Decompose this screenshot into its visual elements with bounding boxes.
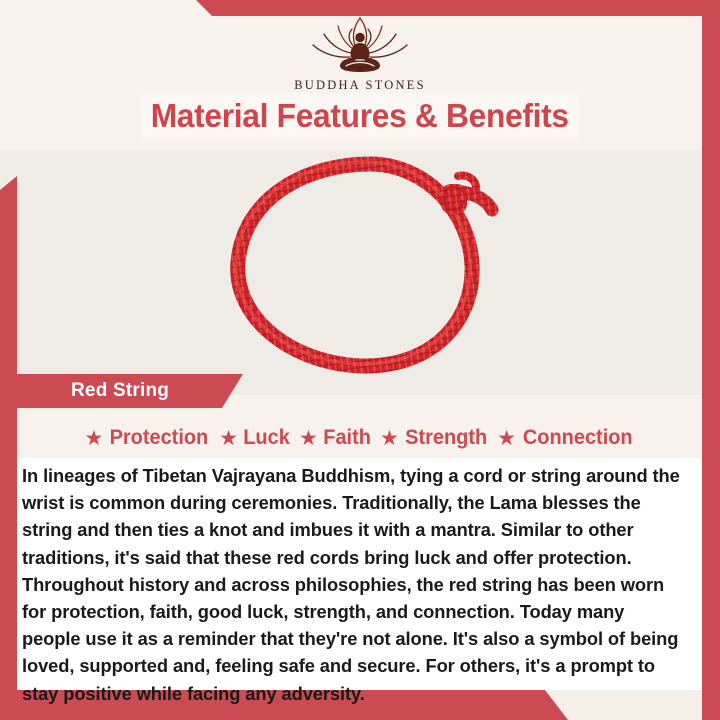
star-icon: ★ [380,428,399,449]
star-icon: ★ [299,428,318,449]
product-photo [200,150,530,385]
infographic-card: BUDDHA STONES Material Features & Benefi… [0,0,720,720]
benefit-item: ★ Connection [497,426,635,450]
page-title: Material Features & Benefits [151,97,569,135]
benefit-label: Luck [243,426,290,450]
brand-logo: BUDDHA STONES [0,14,720,93]
benefit-item: ★ Strength [380,426,489,450]
benefit-label: Faith [323,426,371,450]
star-icon: ★ [85,428,104,449]
description-text: In lineages of Tibetan Vajrayana Buddhis… [22,462,682,707]
benefit-item: ★ Protection [85,426,212,450]
star-icon: ★ [497,428,516,449]
benefit-item: ★ Luck [219,426,291,450]
frame-accent-left [0,176,17,720]
benefit-label: Protection [110,426,209,450]
product-label-ribbon: Red String [17,374,243,408]
benefit-item: ★ Faith [299,426,372,450]
frame-accent-right [702,0,720,720]
star-icon: ★ [219,428,238,449]
lotus-meditation-icon [300,14,420,76]
benefit-label: Strength [405,426,487,450]
brand-name: BUDDHA STONES [294,78,426,93]
title-banner: Material Features & Benefits [141,93,579,138]
product-label: Red String [71,380,169,402]
benefit-label: Connection [523,426,633,450]
benefits-list: ★ Protection ★ Luck ★ Faith ★ Strength ★… [18,420,702,456]
